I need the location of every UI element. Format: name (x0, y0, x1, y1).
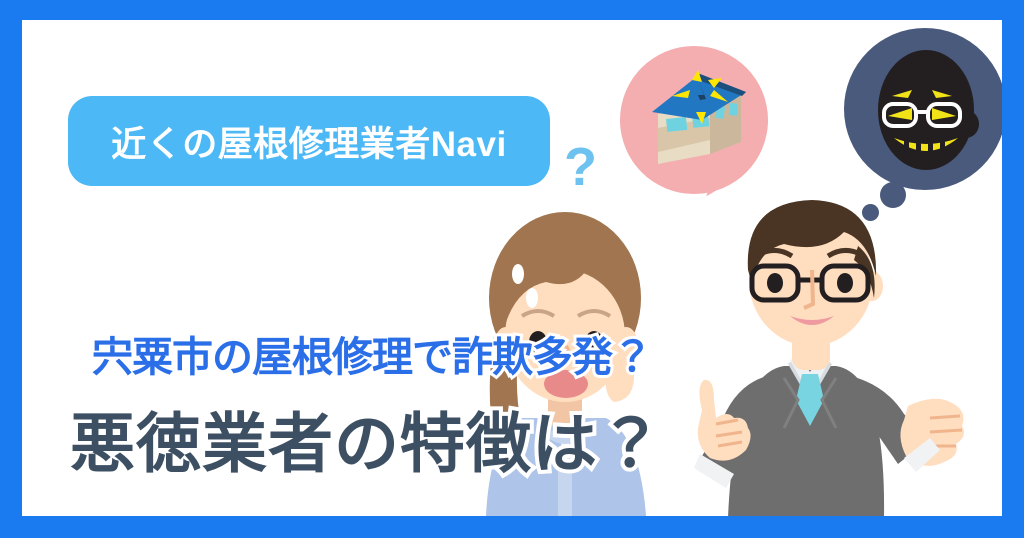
site-logo-label: 近くの屋根修理業者Navi (111, 116, 506, 167)
scammer-face-icon (868, 46, 984, 174)
banner-canvas: 近くの屋根修理業者Navi ? 宍粟市の屋根修理で詐欺多発？ 悪徳業者の特徴は？ (22, 20, 1002, 516)
site-logo-badge[interactable]: 近くの屋根修理業者Navi (68, 96, 550, 186)
banner-subtitle: 宍粟市の屋根修理で詐欺多発？ (92, 323, 652, 383)
pointing-man (672, 188, 968, 516)
banner-frame: 近くの屋根修理業者Navi ? 宍粟市の屋根修理で詐欺多発？ 悪徳業者の特徴は？ (0, 0, 1024, 538)
banner-title: 悪徳業者の特徴は？ (70, 391, 664, 485)
broken-roof-house-icon (642, 68, 750, 168)
question-mark-icon: ? (564, 140, 597, 194)
